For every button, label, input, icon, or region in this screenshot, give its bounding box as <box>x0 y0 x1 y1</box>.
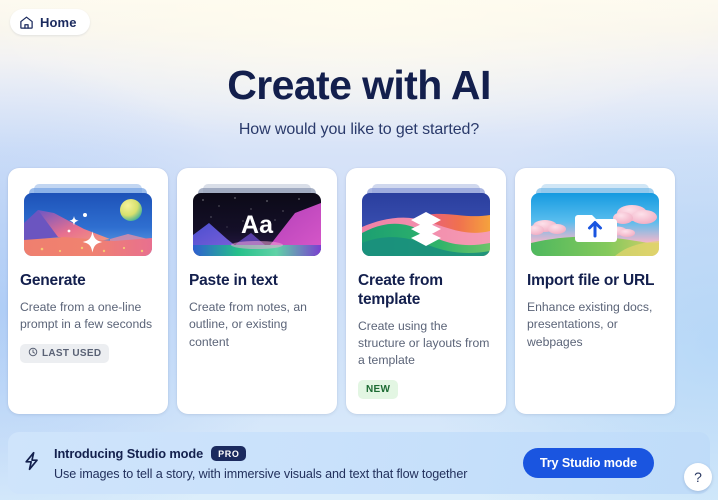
card-create-from-template[interactable]: Create from template Create using the st… <box>346 168 506 414</box>
status-badge-label: LAST USED <box>42 348 101 359</box>
status-badge-new: NEW <box>358 380 398 399</box>
layers-hills-art <box>362 193 490 256</box>
card-import-file-or-url[interactable]: Import file or URL Enhance existing docs… <box>515 168 675 414</box>
try-studio-mode-button[interactable]: Try Studio mode <box>523 448 654 478</box>
clouds-upload-art <box>531 193 659 256</box>
desert-sparkle-art <box>24 193 152 256</box>
card-description: Enhance existing docs, presentations, or… <box>527 299 663 351</box>
card-thumbnail-generate <box>24 184 152 256</box>
banner-headline-row: Introducing Studio mode PRO <box>54 446 523 461</box>
bolt-icon <box>22 450 42 477</box>
banner-text: Introducing Studio mode PRO Use images t… <box>54 446 523 481</box>
card-description: Create from notes, an outline, or existi… <box>189 299 325 351</box>
card-title: Import file or URL <box>527 272 663 291</box>
help-button[interactable]: ? <box>684 463 712 491</box>
card-title: Create from template <box>358 272 494 310</box>
banner-headline: Introducing Studio mode <box>54 446 203 461</box>
card-description: Create using the structure or layouts fr… <box>358 318 494 370</box>
card-title: Paste in text <box>189 272 325 291</box>
home-button[interactable]: Home <box>10 9 90 35</box>
card-title: Generate <box>20 272 156 291</box>
page-title: Create with AI <box>0 62 718 109</box>
night-aurora-aa-art: Aa <box>193 193 321 256</box>
page-header: Create with AI How would you like to get… <box>0 62 718 139</box>
card-thumbnail-import-file-or-url <box>531 184 659 256</box>
option-card-list: Generate Create from a one-line prompt i… <box>8 168 710 414</box>
home-icon <box>19 15 34 30</box>
status-badge-last-used: LAST USED <box>20 344 109 363</box>
page-subtitle: How would you like to get started? <box>0 121 718 139</box>
question-mark-icon: ? <box>694 469 702 485</box>
card-thumbnail-paste-in-text: Aa <box>193 184 321 256</box>
clock-icon <box>28 347 38 360</box>
pro-badge: PRO <box>211 446 246 461</box>
svg-text:Aa: Aa <box>241 211 274 239</box>
home-label: Home <box>40 15 77 30</box>
card-thumbnail-create-from-template <box>362 184 490 256</box>
card-description: Create from a one-line prompt in a few s… <box>20 299 156 334</box>
card-paste-in-text[interactable]: Aa Paste in text Create from notes, an o… <box>177 168 337 414</box>
banner-description: Use images to tell a story, with immersi… <box>54 467 523 481</box>
card-generate[interactable]: Generate Create from a one-line prompt i… <box>8 168 168 414</box>
status-badge-label: NEW <box>366 384 390 395</box>
studio-mode-banner: Introducing Studio mode PRO Use images t… <box>8 432 710 494</box>
